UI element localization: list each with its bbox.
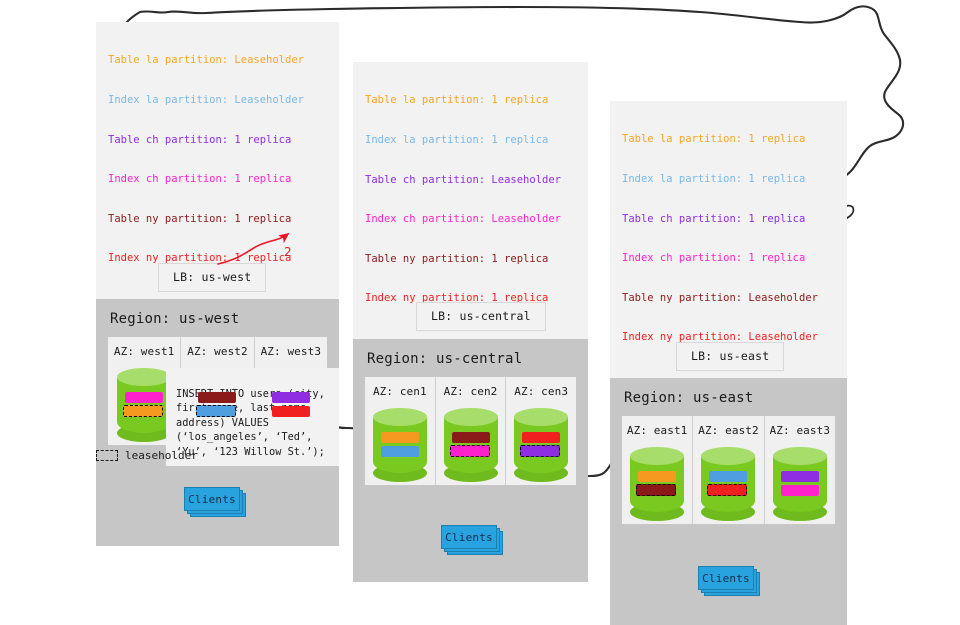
cylinder-top [373,408,427,426]
az-cell-cen3[interactable]: AZ: cen3 [505,377,576,485]
partition-legend-us-central: Table la partition: 1 replica Index la p… [353,62,588,339]
replica-slab [272,392,310,403]
replica-slab [638,471,676,482]
replica-slab [381,446,419,457]
az-label: AZ: east3 [765,424,835,437]
node-cylinder-east1[interactable] [630,447,684,521]
partition-line: Index la partition: 1 replica [365,134,578,147]
partition-line: Index ch partition: 1 replica [622,252,837,265]
leaseholder-legend-key: leaseholder [96,449,198,462]
az-cell-east2[interactable]: AZ: east2 [692,416,763,524]
leaseholder-slab [636,484,676,496]
az-label: AZ: cen1 [365,385,435,398]
az-label: AZ: west3 [255,345,327,358]
clients-sheet-front[interactable]: Clients [184,487,240,511]
cylinder-top [514,408,568,426]
load-balancer-us-west[interactable]: LB: us-west [158,263,266,292]
replica-slab [381,432,419,443]
partition-legend-us-west: Table la partition: Leaseholder Index la… [96,22,339,299]
cylinder-top [117,368,171,386]
clients-stack-us-west[interactable]: Clients [184,487,240,511]
partition-line: Index ch partition: 1 replica [108,173,329,186]
az-row-us-central: AZ: cen1 AZ: cen2 [365,377,576,485]
lb-label: LB: us-west [173,270,251,284]
region-title: Region: us-east [610,378,847,416]
load-balancer-us-east[interactable]: LB: us-east [676,342,784,371]
annotation-number-2: 2 [284,245,292,259]
clients-sheet-front[interactable]: Clients [698,566,754,590]
leaseholder-slab [196,405,236,417]
cylinder-top [630,447,684,465]
lb-label: LB: us-central [431,309,531,323]
node-cylinder-east3[interactable] [773,447,827,521]
region-title: Region: us-west [96,299,339,337]
clients-stack-us-east[interactable]: Clients [698,566,754,590]
az-label: AZ: east1 [622,424,692,437]
partition-line: Table ny partition: 1 replica [365,253,578,266]
partition-line: Table ch partition: 1 replica [622,213,837,226]
node-cylinder-cen3[interactable] [514,408,568,482]
az-label: AZ: cen2 [436,385,506,398]
partition-line: Index ch partition: Leaseholder [365,213,578,226]
az-cell-cen2[interactable]: AZ: cen2 [435,377,506,485]
load-balancer-us-central[interactable]: LB: us-central [416,302,546,331]
az-label: AZ: west2 [181,345,253,358]
replica-slab [709,471,747,482]
partition-line: Table ch partition: 1 replica [108,134,329,147]
az-label: AZ: east2 [693,424,763,437]
region-body-us-east: Region: us-east AZ: east1 AZ: east2 [610,378,847,625]
node-cylinder-west1[interactable] [117,368,171,442]
lb-label: LB: us-east [691,349,769,363]
partition-line: Table la partition: 1 replica [622,133,837,146]
replica-slab [198,392,236,403]
cylinder-top [444,408,498,426]
clients-sheet-front[interactable]: Clients [441,525,497,549]
dashed-outline-swatch-icon [96,450,118,461]
node-cylinder-east2[interactable] [701,447,755,521]
replica-slab [272,406,310,417]
leaseholder-slab [450,445,490,457]
leaseholder-slab [707,484,747,496]
cylinder-top [773,447,827,465]
az-label: AZ: west1 [108,345,180,358]
partition-line: Index la partition: 1 replica [622,173,837,186]
clients-label: Clients [702,572,750,585]
leaseholder-slab [520,445,560,457]
leaseholder-slab [123,405,163,417]
partition-line: Table ch partition: Leaseholder [365,174,578,187]
partition-line: Table la partition: Leaseholder [108,54,329,67]
clients-label: Clients [188,493,236,506]
replica-slab [781,485,819,496]
partition-line: Table ny partition: Leaseholder [622,292,837,305]
region-title: Region: us-central [353,339,588,377]
partition-line: Index la partition: Leaseholder [108,94,329,107]
az-cell-east3[interactable]: AZ: east3 [764,416,835,524]
node-cylinder-cen1[interactable] [373,408,427,482]
az-cell-cen1[interactable]: AZ: cen1 [365,377,435,485]
az-label: AZ: cen3 [506,385,576,398]
clients-label: Clients [445,531,493,544]
az-row-us-east: AZ: east1 AZ: east2 [622,416,835,524]
replica-slab [125,392,163,403]
region-body-us-central: Region: us-central AZ: cen1 AZ: cen2 [353,339,588,582]
az-cell-east1[interactable]: AZ: east1 [622,416,692,524]
replica-slab [452,432,490,443]
partition-legend-us-east: Table la partition: 1 replica Index la p… [610,101,847,378]
leaseholder-legend-label: leaseholder [125,449,198,462]
node-cylinder-cen2[interactable] [444,408,498,482]
replica-slab [522,432,560,443]
diagram-canvas: Table la partition: Leaseholder Index la… [0,0,960,540]
replica-slab [781,471,819,482]
partition-line: Table la partition: 1 replica [365,94,578,107]
partition-line: Table ny partition: 1 replica [108,213,329,226]
clients-stack-us-central[interactable]: Clients [441,525,497,549]
